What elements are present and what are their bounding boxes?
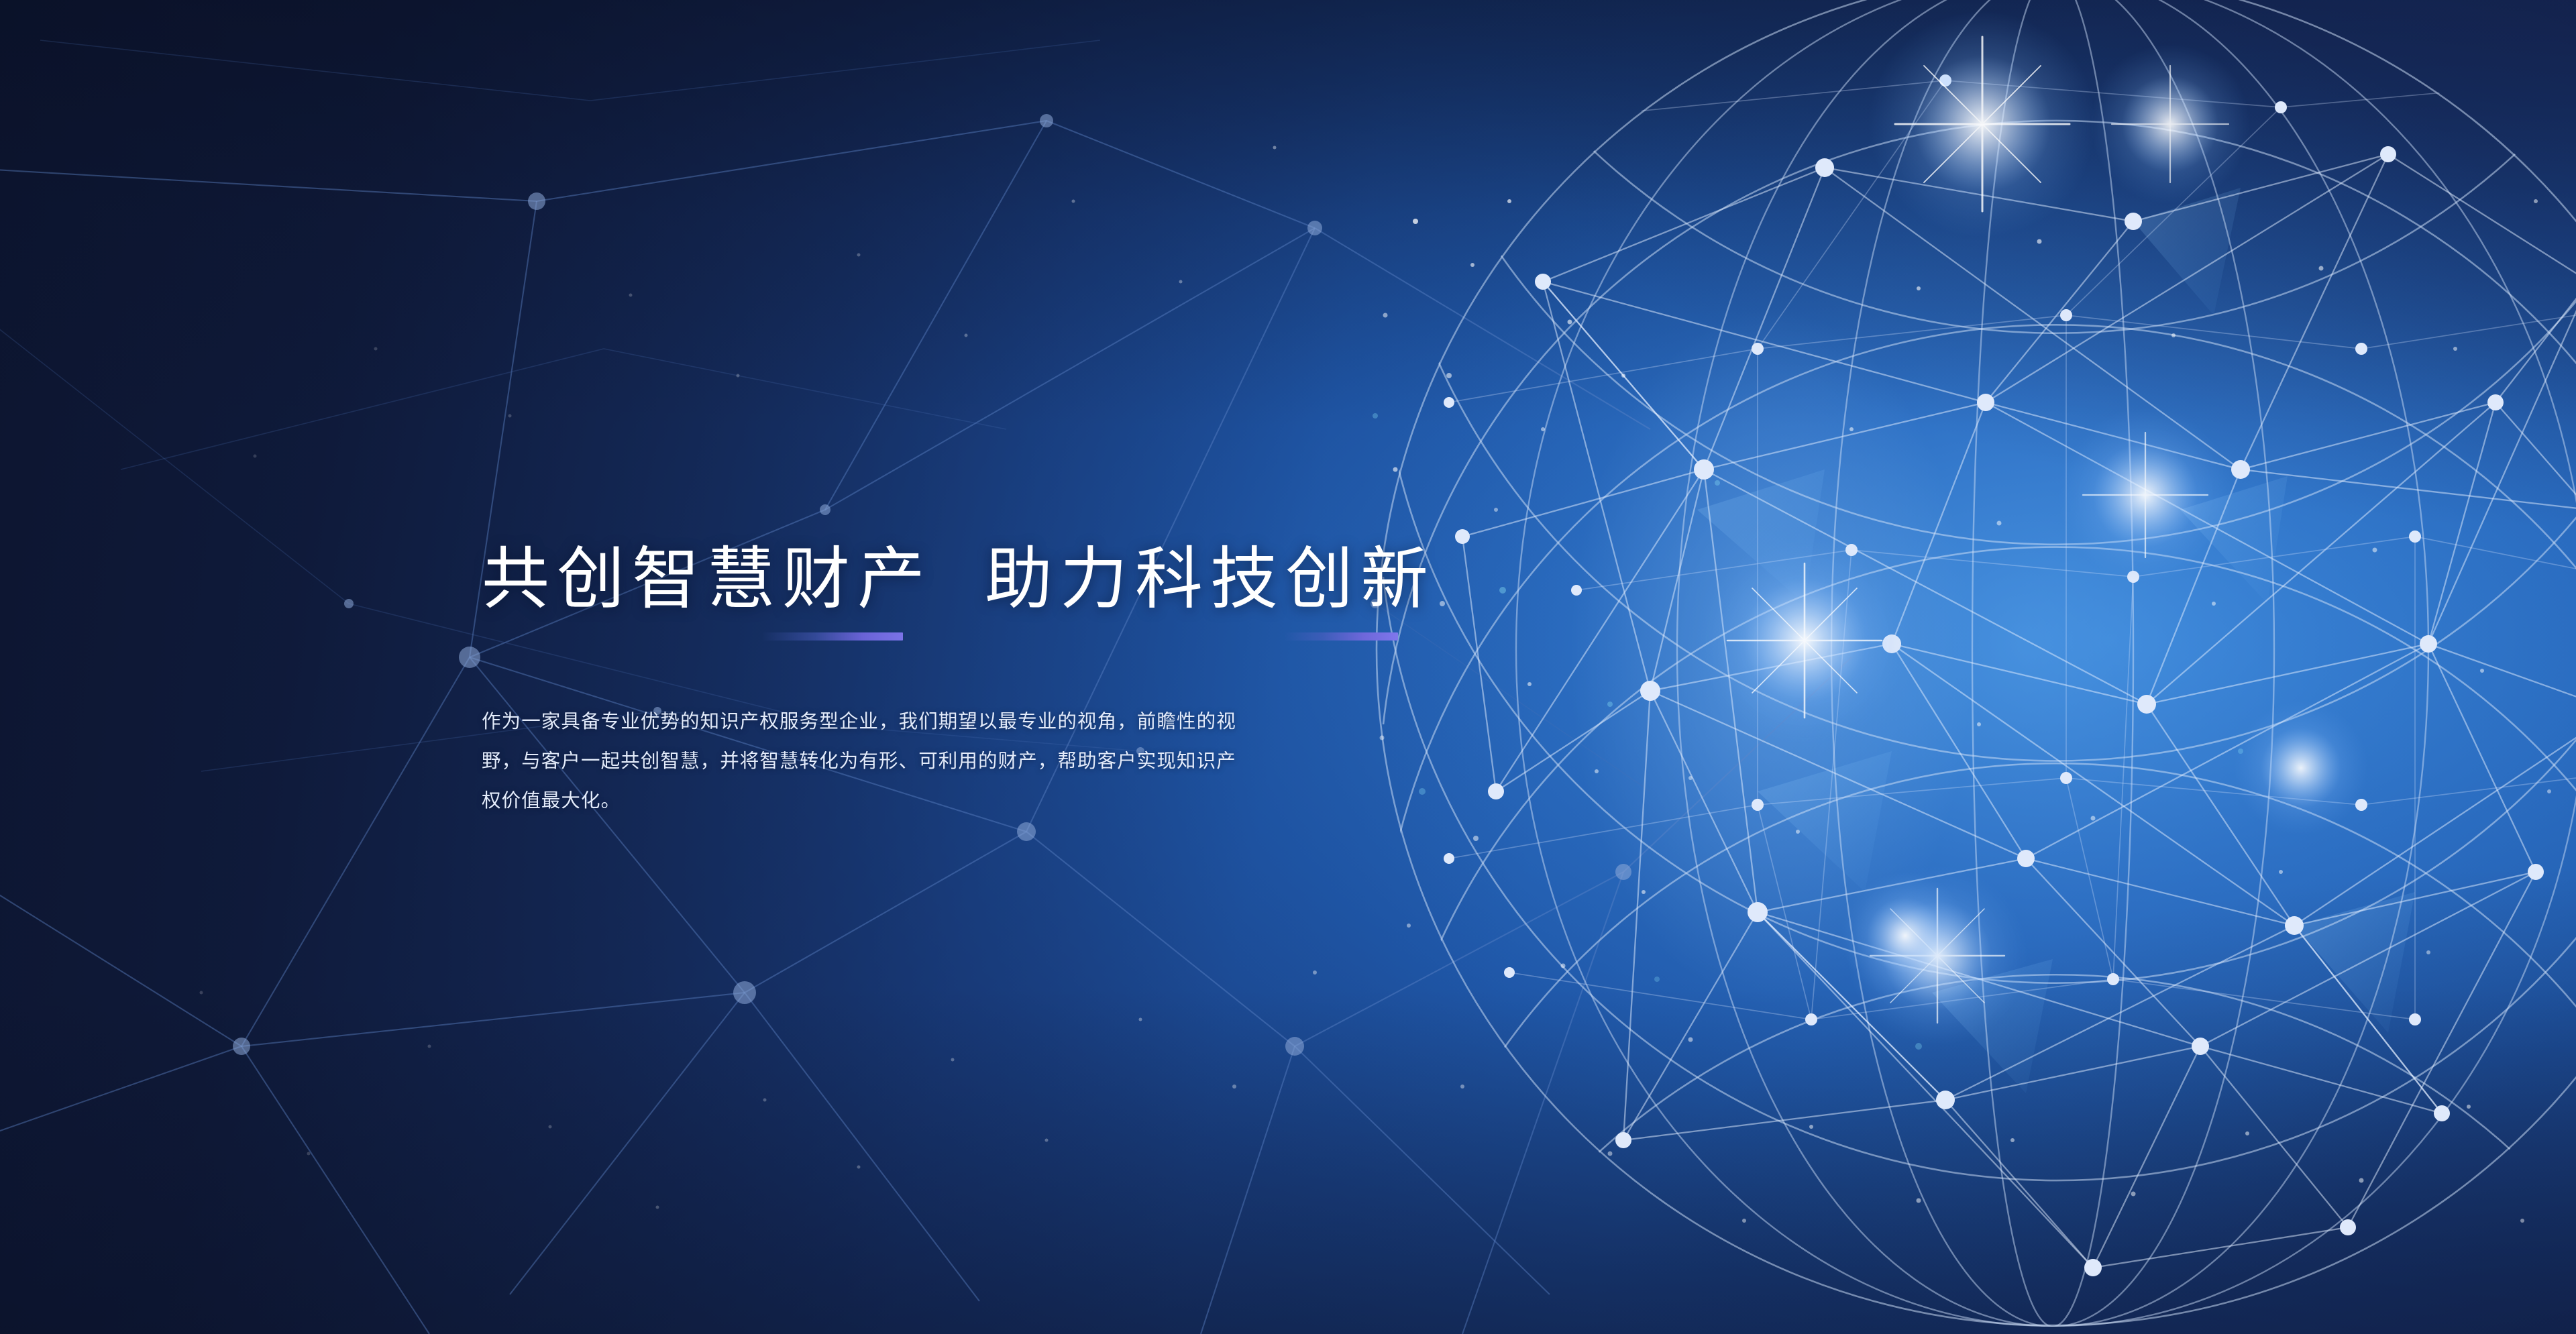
accent-underline-2 [1284, 632, 1398, 641]
headline-part-2: 助力科技创新 [985, 541, 1436, 619]
headline-group-1: 共创智慧财产 [482, 541, 932, 619]
hero-content: 共创智慧财产 助力科技创新 作为一家具备专业优势的知识产权服务型企业，我们期望以… [482, 541, 1488, 840]
headline-part-1: 共创智慧财产 [482, 541, 932, 619]
headline-group-2: 助力科技创新 [985, 541, 1436, 619]
hero-banner: 共创智慧财产 助力科技创新 作为一家具备专业优势的知识产权服务型企业，我们期望以… [0, 0, 2576, 1334]
hero-description: 作为一家具备专业优势的知识产权服务型企业，我们期望以最专业的视角，前瞻性的视野，… [482, 702, 1253, 821]
page-title: 共创智慧财产 助力科技创新 [482, 541, 1488, 619]
accent-underline-1 [762, 632, 903, 641]
